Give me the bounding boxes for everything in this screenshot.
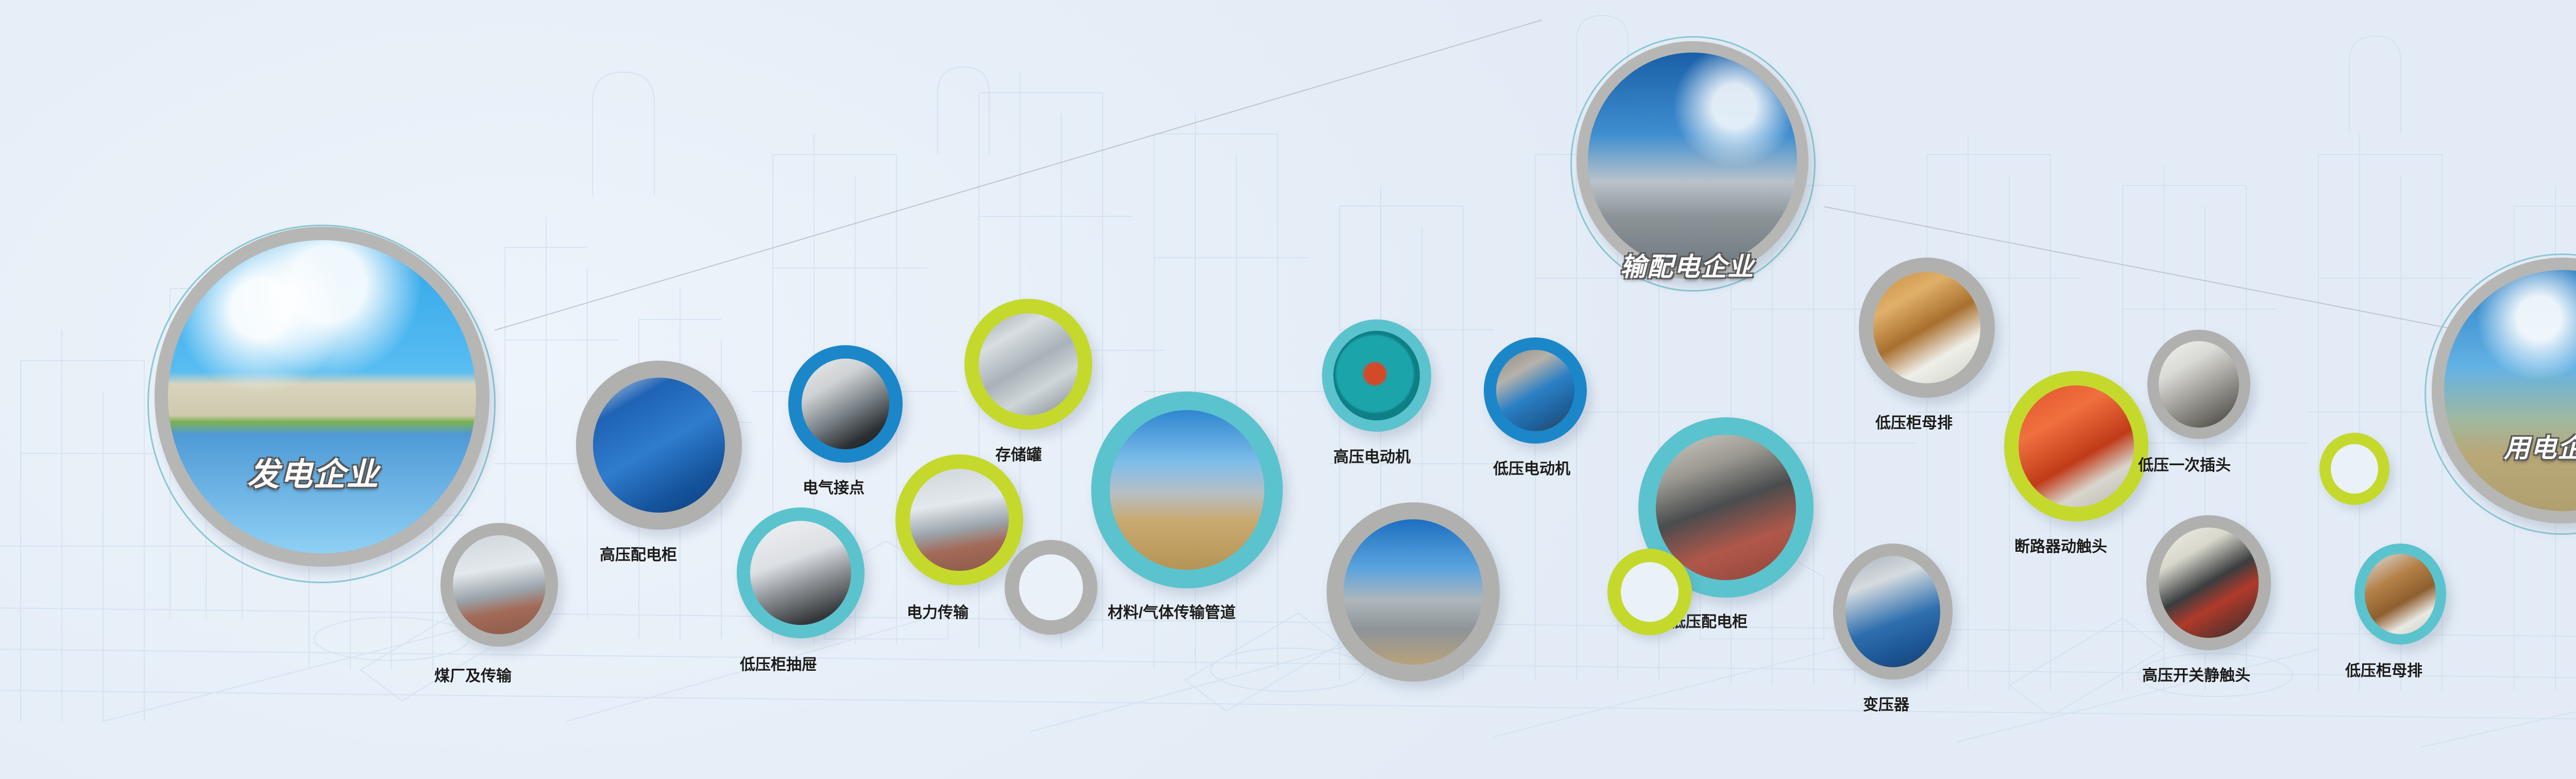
hero-node-power-consumer[interactable]: 用电企业 [2432,258,2576,523]
caption-lv-motor: 低压电动机 [1493,456,1570,479]
hero-label-power-consumer: 用电企业 [2504,428,2576,465]
ring-storage-tank[interactable] [964,299,1092,430]
caption-breaker-moving-contact: 断路器动触头 [2014,534,2107,556]
hollow-ring-lime-right [2319,433,2389,505]
hero-ring-power-consumer[interactable] [2432,258,2576,523]
photo-hv-motor [1333,331,1420,420]
caption-hv-switch-static-contact: 高压开关静触头 [2142,663,2250,685]
ring-breaker-moving-contact[interactable] [2004,371,2148,521]
caption-power-transmission: 电力传输 [907,600,969,622]
ring-transformer[interactable] [1833,544,1953,680]
caption-lv-cabinet-busbar-top: 低压柜母排 [1875,410,1953,433]
node-electrical-contact[interactable]: 电气接点 [788,345,903,463]
node-coal-plant-transport[interactable]: 煤厂及传输 [440,523,558,647]
hollow-ring-gray-left [1005,540,1097,635]
hollow-ring-lime-mid [1607,549,1692,635]
ring-coal-plant-transport[interactable] [440,523,558,647]
caption-hv-distribution-cabinet: 高压配电柜 [600,542,677,565]
caption-transformer: 变压器 [1863,692,1909,715]
ring-power-transmission[interactable] [895,454,1023,585]
photo-refinery-plant [1344,519,1483,665]
node-hollow-ring-lime-mid [1607,549,1692,635]
photo-lv-cabinet-drawer [750,521,851,625]
hero-photo-power-consumer [2444,270,2576,511]
photo-lv-motor [1496,350,1574,431]
ring-material-gas-pipeline[interactable] [1091,392,1283,588]
node-breaker-moving-contact[interactable]: 断路器动触头 [2004,371,2148,521]
node-lv-cabinet-drawer[interactable]: 低压柜抽屉 [737,507,865,638]
photo-hv-switch-static-contact [2159,528,2259,638]
ring-lv-primary-plug[interactable] [2147,330,2250,439]
caption-electrical-contact: 电气接点 [803,475,865,498]
node-lv-cabinet-busbar-right[interactable]: 低压柜母排 [2354,544,2446,645]
ring-electrical-contact[interactable] [788,345,903,463]
node-transformer[interactable]: 变压器 [1833,544,1953,680]
ring-lv-motor[interactable] [1484,337,1587,444]
ring-refinery-plant[interactable] [1327,502,1500,682]
ring-hv-distribution-cabinet[interactable] [576,361,742,530]
ring-lv-cabinet-busbar-right[interactable] [2354,544,2446,645]
node-lv-motor[interactable]: 低压电动机 [1484,337,1587,444]
photo-power-transmission [910,469,1009,571]
caption-lv-primary-plug: 低压一次插头 [2138,452,2231,475]
hero-node-power-generation[interactable]: 发电企业 [155,227,489,567]
ring-lv-cabinet-busbar-top[interactable] [1859,258,1995,398]
photo-breaker-moving-contact [2019,385,2134,507]
caption-lv-cabinet-drawer: 低压柜抽屉 [740,652,817,674]
photo-hv-distribution-cabinet [593,378,725,513]
photo-transformer [1845,556,1940,667]
hero-photo-power-generation [168,240,476,553]
hero-node-transmission-distribution[interactable]: 输配电企业 [1577,41,1808,279]
ring-hv-motor[interactable] [1322,319,1431,432]
node-lv-primary-plug[interactable]: 低压一次插头 [2147,330,2250,439]
hero-ring-transmission-distribution[interactable] [1577,41,1808,279]
hero-label-transmission-distribution: 输配电企业 [1620,246,1754,283]
node-hollow-ring-lime-right [2319,433,2389,505]
node-hv-switch-static-contact[interactable]: 高压开关静触头 [2146,515,2271,650]
connector-gen-to-transdist [495,20,1542,331]
node-material-gas-pipeline[interactable]: 材料/气体传输管道 [1091,392,1283,588]
node-hv-motor[interactable]: 高压电动机 [1322,319,1431,432]
hero-label-power-generation: 发电企业 [247,448,379,495]
photo-lv-cabinet-busbar-right [2365,554,2436,634]
node-storage-tank[interactable]: 存储罐 [964,299,1092,430]
node-power-transmission[interactable]: 电力传输 [895,454,1023,585]
hero-ring-power-generation[interactable] [155,227,489,567]
ring-lv-cabinet-drawer[interactable] [737,507,865,638]
caption-hv-motor: 高压电动机 [1333,444,1411,467]
node-lv-cabinet-busbar-top[interactable]: 低压柜母排 [1859,258,1995,398]
node-hv-distribution-cabinet[interactable]: 高压配电柜 [576,361,742,530]
hero-photo-transmission-distribution [1588,53,1797,268]
caption-lv-cabinet-busbar-right: 低压柜母排 [2345,658,2422,681]
photo-material-gas-pipeline [1110,410,1264,570]
photo-lv-primary-plug [2159,341,2239,428]
node-refinery-plant[interactable] [1327,502,1500,682]
infographic-canvas: 发电企业 输配电企业 用电企业 煤厂及传输 高压配电柜 低压柜 [0,0,2576,779]
caption-coal-plant-transport: 煤厂及传输 [434,663,512,686]
node-hollow-ring-gray-left [1005,540,1097,635]
photo-lv-cabinet-busbar-top [1873,272,1980,383]
ring-hv-switch-static-contact[interactable] [2146,515,2271,650]
photo-coal-plant-transport [453,535,546,634]
caption-material-gas-pipeline: 材料/气体传输管道 [1108,600,1235,622]
photo-storage-tank [979,313,1078,415]
photo-electrical-contact [802,359,889,449]
